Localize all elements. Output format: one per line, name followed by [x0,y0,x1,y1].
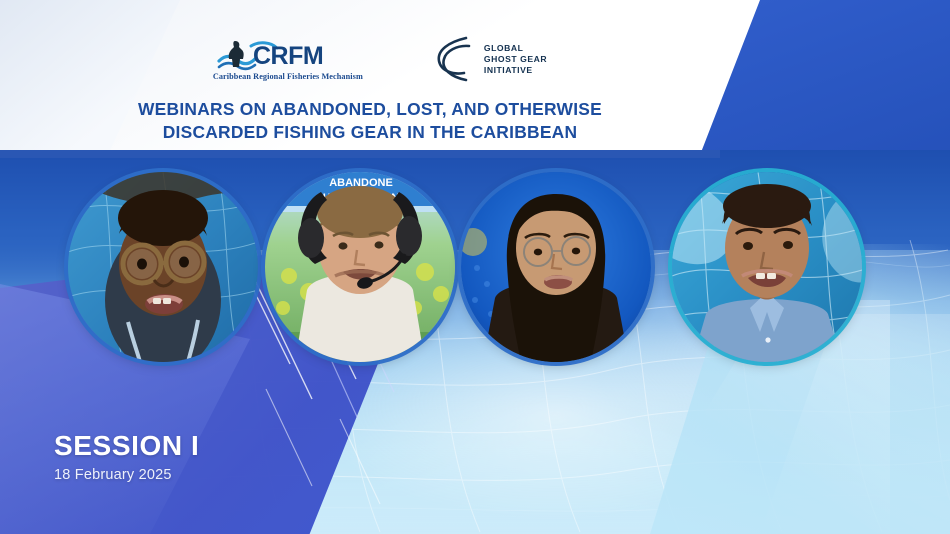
gggi-line-1: GLOBAL [484,43,547,54]
avatar [672,172,862,362]
avatar [461,172,651,362]
svg-text:CRFM: CRFM [253,42,323,70]
title-line-1: WEBINARS ON ABANDONED, LOST, AND OTHERWI… [0,98,740,121]
avatar: ABANDONE HING GEAR IN [265,172,455,362]
header-bottom-band [0,150,720,158]
ghost-gear-hook-icon [433,35,477,83]
logo-row: CRFM Caribbean Regional Fisheries Mechan… [0,30,760,88]
participant-video-2[interactable]: ABANDONE HING GEAR IN [265,172,455,362]
participant-video-1[interactable] [68,172,258,362]
session-date: 18 February 2025 [54,467,199,483]
session-info: SESSION I 18 February 2025 [54,432,199,483]
participant-video-3[interactable] [461,172,651,362]
avatar [68,172,258,362]
page-title: WEBINARS ON ABANDONED, LOST, AND OTHERWI… [0,98,740,143]
gggi-line-2: GHOST GEAR [484,54,547,65]
crfm-wordmark: CRFM [213,37,363,75]
ghost-gear-wordmark: GLOBAL GHOST GEAR INITIATIVE [484,43,547,76]
crfm-logo: CRFM Caribbean Regional Fisheries Mechan… [213,37,363,81]
global-ghost-gear-initiative-logo: GLOBAL GHOST GEAR INITIATIVE [433,35,547,83]
title-line-2: DISCARDED FISHING GEAR IN THE CARIBBEAN [0,121,740,144]
session-label: SESSION I [54,432,199,460]
webinar-title-card: CRFM Caribbean Regional Fisheries Mechan… [0,0,950,534]
participant-video-4[interactable] [672,172,862,362]
gggi-line-3: INITIATIVE [484,65,547,76]
